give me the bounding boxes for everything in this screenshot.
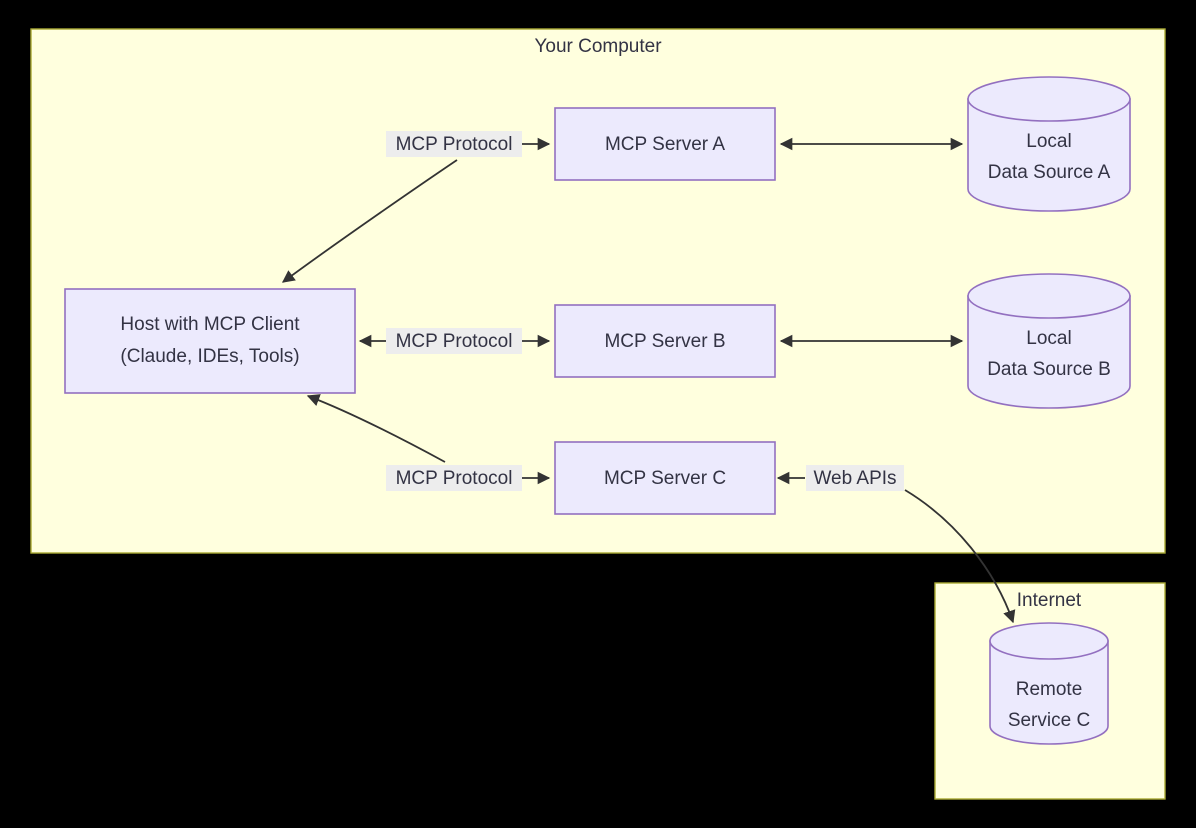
edge-label-web-apis: Web APIs (806, 465, 904, 491)
data-source-b-label-line2: Data Source B (987, 359, 1111, 380)
node-local-data-source-b[interactable]: Local Data Source B (968, 274, 1130, 408)
server-a-label: MCP Server A (605, 134, 725, 155)
server-b-label: MCP Server B (604, 331, 725, 352)
edge-label-protocol-c: MCP Protocol (386, 465, 522, 491)
web-apis-label: Web APIs (813, 468, 896, 489)
node-mcp-server-b[interactable]: MCP Server B (555, 305, 775, 377)
host-label-line1: Host with MCP Client (120, 314, 300, 335)
edge-label-protocol-a: MCP Protocol (386, 131, 522, 157)
diagram-canvas: Your Computer Internet (0, 0, 1196, 828)
protocol-b-label: MCP Protocol (396, 331, 513, 352)
protocol-a-label: MCP Protocol (396, 134, 513, 155)
host-label-line2: (Claude, IDEs, Tools) (120, 346, 299, 367)
data-source-b-top (968, 274, 1130, 318)
your-computer-label: Your Computer (534, 36, 662, 57)
data-source-b-label-line1: Local (1026, 328, 1071, 349)
server-c-label: MCP Server C (604, 468, 726, 489)
data-source-a-label-line1: Local (1026, 131, 1071, 152)
protocol-c-label: MCP Protocol (396, 468, 513, 489)
data-source-a-label-line2: Data Source A (988, 162, 1111, 183)
remote-service-c-label-line1: Remote (1016, 679, 1083, 700)
edge-label-protocol-b: MCP Protocol (386, 328, 522, 354)
host-box[interactable] (65, 289, 355, 393)
data-source-a-top (968, 77, 1130, 121)
internet-label: Internet (1017, 590, 1082, 611)
remote-service-c-top (990, 623, 1108, 659)
node-local-data-source-a[interactable]: Local Data Source A (968, 77, 1130, 211)
diagram-svg: Your Computer Internet (0, 0, 1196, 828)
node-host[interactable]: Host with MCP Client (Claude, IDEs, Tool… (65, 289, 355, 393)
node-mcp-server-c[interactable]: MCP Server C (555, 442, 775, 514)
node-remote-service-c[interactable]: Remote Service C (990, 623, 1108, 744)
remote-service-c-label-line2: Service C (1008, 710, 1090, 731)
node-mcp-server-a[interactable]: MCP Server A (555, 108, 775, 180)
